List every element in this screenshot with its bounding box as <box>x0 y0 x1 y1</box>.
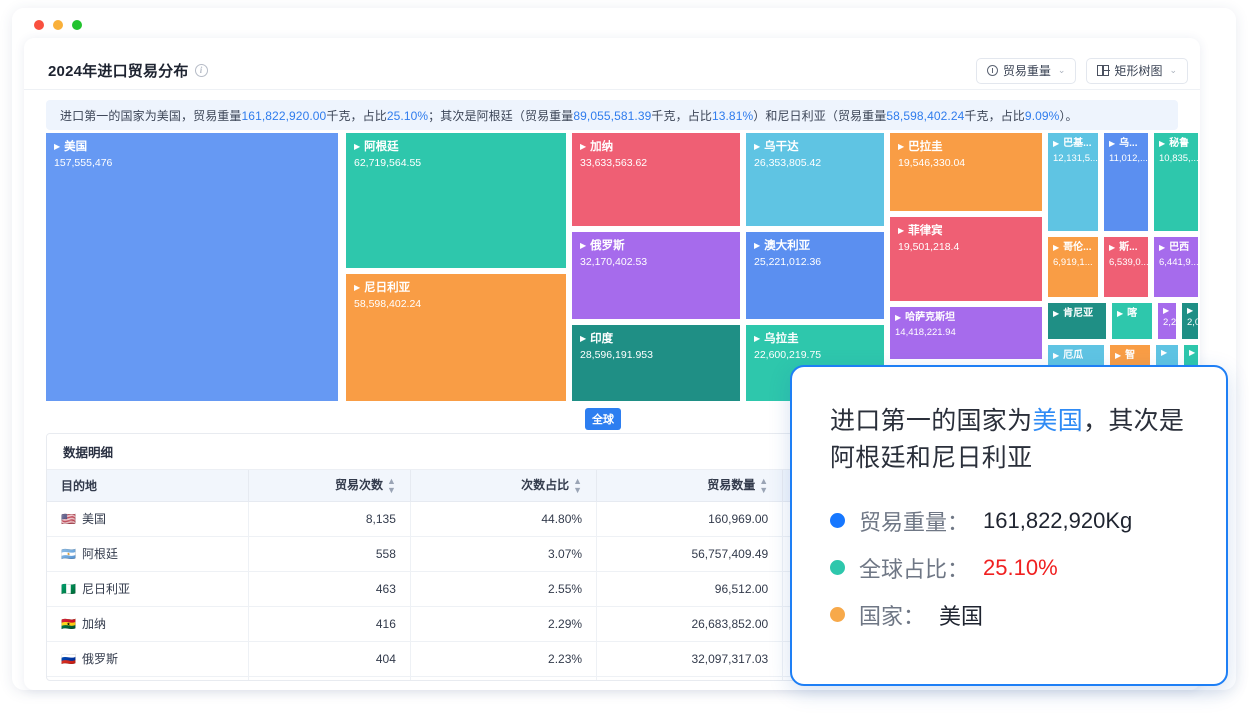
destination-label: 加纳 <box>82 615 106 632</box>
treemap-tile-name: ▶加纳 <box>580 140 732 154</box>
treemap-tile[interactable]: ▶哈萨克斯坦14,418,221.94 <box>890 307 1042 359</box>
card-header: 2024年进口贸易分布 i 贸易重量 ⌄ 矩形树图 ⌄ <box>24 52 1200 90</box>
destination-label: 俄罗斯 <box>82 650 118 667</box>
expand-triangle-icon: ▶ <box>1187 307 1193 315</box>
expand-triangle-icon: ▶ <box>354 284 360 292</box>
treemap-tile-name: ▶哈萨克斯坦 <box>895 311 1037 325</box>
sort-icon[interactable]: ▲▼ <box>759 477 768 495</box>
page-title-wrap: 2024年进口贸易分布 i <box>48 60 208 81</box>
tooltip-headline: 进口第一的国家为美国，其次是阿根廷和尼日利亚 <box>830 403 1196 477</box>
cell-destination: 🇷🇺俄罗斯 <box>47 641 249 676</box>
treemap-tile-name: ▶巴西 <box>1159 241 1193 255</box>
treemap-tile-value: 2,2 <box>1163 316 1171 329</box>
country-flag-icon: 🇬🇭 <box>61 618 76 630</box>
country-flag-icon: 🇦🇷 <box>61 548 76 560</box>
expand-triangle-icon: ▶ <box>754 242 760 250</box>
destination-label: 尼日利亚 <box>82 580 130 597</box>
treemap-chart: ▶美国157,555,476▶阿根廷62,719,564.55▶尼日利亚58,5… <box>46 133 1156 403</box>
treemap-tile-value: 32,170,402.53 <box>580 256 732 269</box>
treemap-tile-name: ▶斯... <box>1109 241 1143 255</box>
cell-trade-qty: 26,633,321.11 <box>597 676 783 681</box>
destination-label: 美国 <box>82 510 106 527</box>
treemap-tile-name: ▶澳大利亚 <box>754 239 876 253</box>
tooltip-metric-value: 美国 <box>939 599 983 631</box>
tooltip-metric-label: 全球占比： <box>859 552 969 584</box>
chevron-down-icon: ⌄ <box>1058 65 1066 76</box>
info-icon[interactable]: i <box>195 64 208 77</box>
global-scope-badge[interactable]: 全球 <box>585 408 621 430</box>
tooltip-metric-row: 国家：美国 <box>830 591 1196 638</box>
expand-triangle-icon: ▶ <box>898 227 904 235</box>
summary-text: 进口第一的国家为美国，贸易重量161,822,920.00千克，占比25.10%… <box>60 107 1078 124</box>
cell-destination: 🇦🇷阿根廷 <box>47 536 249 571</box>
treemap-tile-name: ▶乌拉圭 <box>754 332 876 346</box>
cell-trade-count-pct: 3.07% <box>410 536 596 571</box>
destination-label: 阿根廷 <box>82 545 118 562</box>
treemap-tile-name: ▶菲律宾 <box>898 224 1034 238</box>
treemap-tile-name: ▶乌干达 <box>754 140 876 154</box>
treemap-tile[interactable]: ▶尼日利亚58,598,402.24 <box>346 274 566 401</box>
cell-trade-count: 463 <box>249 571 411 606</box>
table-column-header-1[interactable]: 贸易次数▲▼ <box>249 470 411 501</box>
treemap-tile-value: 11,012,... <box>1109 152 1143 165</box>
cell-destination: 🇳🇬尼日利亚 <box>47 571 249 606</box>
chevron-down-icon: ⌄ <box>1169 65 1177 76</box>
expand-triangle-icon: ▶ <box>754 143 760 151</box>
expand-triangle-icon: ▶ <box>54 143 60 151</box>
country-flag-icon: 🇷🇺 <box>61 653 76 665</box>
treemap-tile[interactable]: ▶巴西6,441,9... <box>1154 237 1198 297</box>
minimize-window-button[interactable] <box>53 20 63 30</box>
circle-metric-icon <box>987 65 998 76</box>
grid-treemap-icon <box>1097 65 1109 76</box>
expand-triangle-icon: ▶ <box>1159 140 1165 148</box>
maximize-window-button[interactable] <box>72 20 82 30</box>
expand-triangle-icon: ▶ <box>1109 140 1115 148</box>
treemap-tile[interactable]: ▶澳大利亚25,221,012.36 <box>746 232 884 319</box>
chart-type-dropdown-label: 矩形树图 <box>1114 62 1162 79</box>
tooltip-highlight-country: 美国 <box>1032 407 1083 435</box>
cell-trade-qty: 160,969.00 <box>597 501 783 536</box>
tooltip-metric-value: 25.10% <box>983 555 1058 581</box>
treemap-tile[interactable]: ▶阿根廷62,719,564.55 <box>346 133 566 268</box>
treemap-tile[interactable]: ▶2,2 <box>1158 303 1176 339</box>
cell-destination: 🇬🇭加纳 <box>47 606 249 641</box>
page-title: 2024年进口贸易分布 <box>48 60 189 81</box>
treemap-tile-name: ▶俄罗斯 <box>580 239 732 253</box>
bullet-icon <box>830 560 845 575</box>
expand-triangle-icon: ▶ <box>580 143 586 151</box>
tooltip-metric-label: 国家： <box>859 599 925 631</box>
treemap-tile-value: 58,598,402.24 <box>354 298 558 311</box>
expand-triangle-icon: ▶ <box>1053 244 1059 252</box>
treemap-tile-value: 10,835,... <box>1159 152 1193 165</box>
metric-dropdown-button[interactable]: 贸易重量 ⌄ <box>976 58 1077 84</box>
treemap-tile-name: ▶喀 <box>1117 307 1147 321</box>
cell-trade-count-pct: 3.08% <box>410 676 596 681</box>
treemap-tile[interactable]: ▶美国157,555,476 <box>46 133 338 401</box>
treemap-tile-value: 2,0 <box>1187 316 1193 329</box>
expand-triangle-icon: ▶ <box>1115 352 1121 360</box>
treemap-tile-name: ▶美国 <box>54 140 330 154</box>
treemap-tile[interactable]: ▶印度28,596,191.953 <box>572 325 740 401</box>
treemap-tile[interactable]: ▶加纳33,633,563.62 <box>572 133 740 226</box>
window-controls[interactable] <box>34 20 82 30</box>
treemap-tile-value: 25,221,012.36 <box>754 256 876 269</box>
sort-icon[interactable]: ▲▼ <box>573 477 582 495</box>
treemap-tile[interactable]: ▶喀 <box>1112 303 1152 339</box>
treemap-tile-value: 6,441,9... <box>1159 256 1193 269</box>
treemap-tile[interactable]: ▶2,0 <box>1182 303 1198 339</box>
expand-triangle-icon: ▶ <box>1189 349 1195 357</box>
expand-triangle-icon: ▶ <box>354 143 360 151</box>
treemap-tile-value: 19,501,218.4 <box>898 241 1034 254</box>
treemap-tile-name: ▶秘鲁 <box>1159 137 1193 151</box>
expand-triangle-icon: ▶ <box>580 335 586 343</box>
treemap-tile[interactable]: ▶巴拉圭19,546,330.04 <box>890 133 1042 211</box>
treemap-tile-value: 28,596,191.953 <box>580 349 732 362</box>
tooltip-metric-value: 161,822,920Kg <box>983 508 1132 534</box>
treemap-tile[interactable]: ▶秘鲁10,835,... <box>1154 133 1198 231</box>
country-flag-icon: 🇳🇬 <box>61 583 76 595</box>
treemap-tile-value: 62,719,564.55 <box>354 157 558 170</box>
treemap-tile[interactable]: ▶俄罗斯32,170,402.53 <box>572 232 740 319</box>
treemap-tile-value: 33,633,563.62 <box>580 157 732 170</box>
treemap-tile-name: ▶尼日利亚 <box>354 281 558 295</box>
cell-trade-count: 416 <box>249 606 411 641</box>
cell-trade-qty: 26,683,852.00 <box>597 606 783 641</box>
expand-triangle-icon: ▶ <box>1117 310 1123 318</box>
cell-trade-count: 558 <box>249 536 411 571</box>
table-column-header-3[interactable]: 贸易数量▲▼ <box>597 470 783 501</box>
cell-trade-count: 8,135 <box>249 501 411 536</box>
expand-triangle-icon: ▶ <box>1053 352 1059 360</box>
treemap-tile-name: ▶巴拉圭 <box>898 140 1034 154</box>
treemap-tile-name: ▶阿根廷 <box>354 140 558 154</box>
expand-triangle-icon: ▶ <box>895 314 901 322</box>
treemap-tile-name: ▶ <box>1187 307 1193 315</box>
treemap-tile-name: ▶ <box>1163 307 1171 315</box>
treemap-tile-value: 157,555,476 <box>54 157 330 170</box>
cell-trade-qty: 96,512.00 <box>597 571 783 606</box>
cell-trade-count-pct: 2.29% <box>410 606 596 641</box>
cell-trade-count-pct: 2.55% <box>410 571 596 606</box>
cell-trade-count-pct: 2.23% <box>410 641 596 676</box>
close-window-button[interactable] <box>34 20 44 30</box>
treemap-tile[interactable]: ▶菲律宾19,501,218.4 <box>890 217 1042 301</box>
expand-triangle-icon: ▶ <box>1163 307 1169 315</box>
treemap-tile[interactable]: ▶乌...11,012,... <box>1104 133 1148 231</box>
treemap-tile-name: ▶ <box>1189 349 1193 357</box>
expand-triangle-icon: ▶ <box>1159 244 1165 252</box>
cell-trade-qty: 32,097,317.03 <box>597 641 783 676</box>
tooltip-metric-list: 贸易重量：161,822,920Kg全球占比：25.10%国家：美国 <box>830 497 1196 638</box>
metric-dropdown-label: 贸易重量 <box>1003 62 1051 79</box>
cell-destination: 🇮🇳印度 <box>47 676 249 681</box>
treemap-tile[interactable]: ▶哥伦...6,919,1... <box>1048 237 1098 297</box>
cell-trade-count-pct: 44.80% <box>410 501 596 536</box>
summary-banner: 进口第一的国家为美国，贸易重量161,822,920.00千克，占比25.10%… <box>46 100 1178 130</box>
chart-type-dropdown-button[interactable]: 矩形树图 ⌄ <box>1086 58 1188 84</box>
tooltip-metric-row: 全球占比：25.10% <box>830 544 1196 591</box>
treemap-tile[interactable]: ▶巴基...12,131,5... <box>1048 133 1098 231</box>
treemap-tile[interactable]: ▶斯...6,539,0... <box>1104 237 1148 297</box>
table-column-header-0: 目的地 <box>47 470 249 501</box>
country-flag-icon: 🇺🇸 <box>61 513 76 525</box>
sort-icon[interactable]: ▲▼ <box>387 477 396 495</box>
treemap-tile[interactable]: ▶肯尼亚 <box>1048 303 1106 339</box>
screen-root: 2024年进口贸易分布 i 贸易重量 ⌄ 矩形树图 ⌄ 进口第一的国家为美国，贸… <box>0 0 1252 728</box>
tooltip-metric-row: 贸易重量：161,822,920Kg <box>830 497 1196 544</box>
cell-trade-count: 559 <box>249 676 411 681</box>
treemap-tile-value: 22,600,219.75 <box>754 349 876 362</box>
expand-triangle-icon: ▶ <box>754 335 760 343</box>
treemap-tile-name: ▶厄瓜 <box>1053 349 1099 363</box>
treemap-tile[interactable]: ▶乌干达26,353,805.42 <box>746 133 884 226</box>
treemap-tile-name: ▶智 <box>1115 349 1145 363</box>
expand-triangle-icon: ▶ <box>1053 140 1059 148</box>
window-titlebar <box>12 8 1236 38</box>
cell-trade-qty: 56,757,409.49 <box>597 536 783 571</box>
table-column-header-2[interactable]: 次数占比▲▼ <box>410 470 596 501</box>
treemap-tile-value: 26,353,805.42 <box>754 157 876 170</box>
bullet-icon <box>830 607 845 622</box>
bullet-icon <box>830 513 845 528</box>
cell-trade-count: 404 <box>249 641 411 676</box>
cell-destination: 🇺🇸美国 <box>47 501 249 536</box>
treemap-tile-value: 19,546,330.04 <box>898 157 1034 170</box>
expand-triangle-icon: ▶ <box>1109 244 1115 252</box>
treemap-tile-name: ▶印度 <box>580 332 732 346</box>
tooltip-metric-label: 贸易重量： <box>859 505 969 537</box>
expand-triangle-icon: ▶ <box>898 143 904 151</box>
insight-tooltip: 进口第一的国家为美国，其次是阿根廷和尼日利亚 贸易重量：161,822,920K… <box>790 365 1228 686</box>
expand-triangle-icon: ▶ <box>580 242 586 250</box>
treemap-tile-name: ▶乌... <box>1109 137 1143 151</box>
treemap-tile-value: 14,418,221.94 <box>895 326 1037 339</box>
header-controls: 贸易重量 ⌄ 矩形树图 ⌄ <box>976 58 1188 84</box>
treemap-tile-value: 6,919,1... <box>1053 256 1093 269</box>
treemap-tile-name: ▶肯尼亚 <box>1053 307 1101 321</box>
treemap-tile-name: ▶哥伦... <box>1053 241 1093 255</box>
expand-triangle-icon: ▶ <box>1053 310 1059 318</box>
treemap-tile-value: 12,131,5... <box>1053 152 1093 165</box>
treemap-tile-name: ▶ <box>1161 349 1173 357</box>
treemap-tile-value: 6,539,0... <box>1109 256 1143 269</box>
treemap-tile-name: ▶巴基... <box>1053 137 1093 151</box>
expand-triangle-icon: ▶ <box>1161 349 1167 357</box>
